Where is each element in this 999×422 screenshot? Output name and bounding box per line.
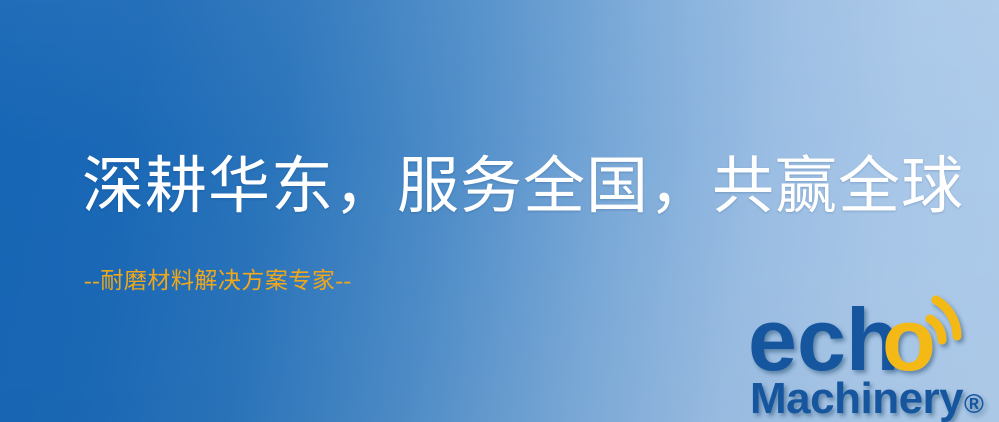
- echo-machinery-logo[interactable]: ech o Machinery ®: [748, 296, 999, 422]
- page-subtitle: --耐磨材料解决方案专家--: [84, 266, 352, 296]
- logo-tagline: Machinery: [750, 374, 964, 422]
- hero-banner: 深耕华东，服务全国，共赢全球 --耐磨材料解决方案专家-- ech o Mach…: [0, 0, 999, 422]
- registered-mark-icon: ®: [964, 389, 984, 419]
- page-title: 深耕华东，服务全国，共赢全球: [82, 151, 964, 223]
